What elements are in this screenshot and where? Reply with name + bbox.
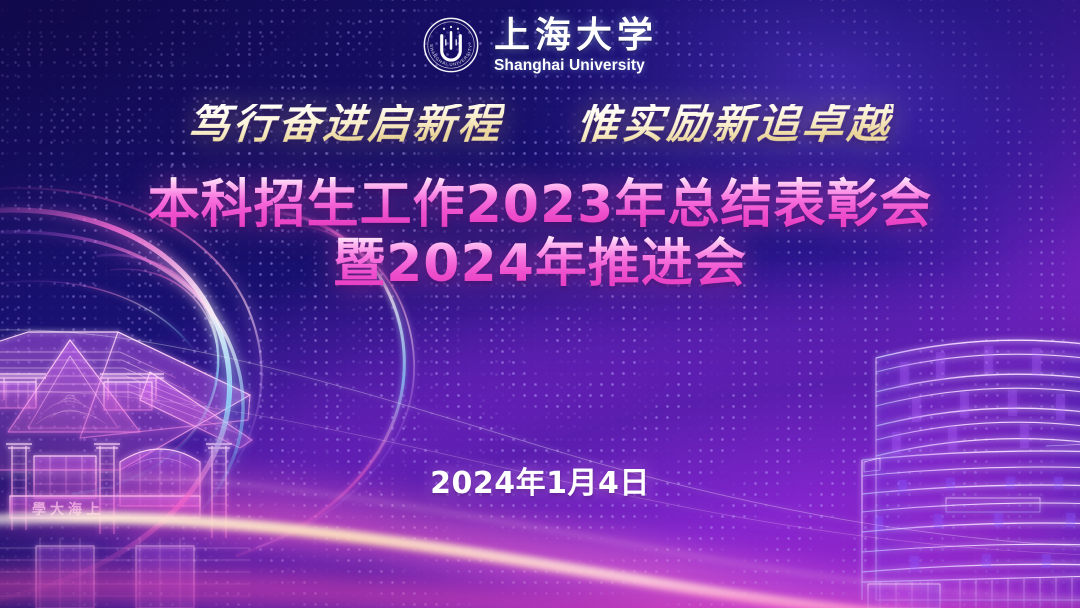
- poster-canvas: 學大海上: [0, 0, 1080, 608]
- event-date-text: 2024年1月4日: [430, 466, 650, 501]
- university-brand-lockup: SHANGHAI UNIVERSITY 上海大学 Shanghai Univer…: [0, 16, 1080, 74]
- slogan-left: 笃行奋进启新程: [186, 104, 505, 146]
- headline-line-1: 本科招生工作2023年总结表彰会: [0, 176, 1080, 235]
- page-title: 本科招生工作2023年总结表彰会 暨2024年推进会: [0, 176, 1080, 295]
- slogan-right: 惟实励新追卓越: [575, 104, 894, 146]
- headline-line-2: 暨2024年推进会: [0, 235, 1080, 294]
- event-date: 2024年1月4日: [0, 458, 1080, 502]
- university-name-en: Shanghai University: [494, 58, 645, 74]
- university-name-cn: 上海大学: [494, 17, 658, 53]
- slogan-row: 笃行奋进启新程 惟实励新追卓越: [0, 104, 1080, 146]
- shanghai-university-seal-icon: SHANGHAI UNIVERSITY: [422, 16, 480, 74]
